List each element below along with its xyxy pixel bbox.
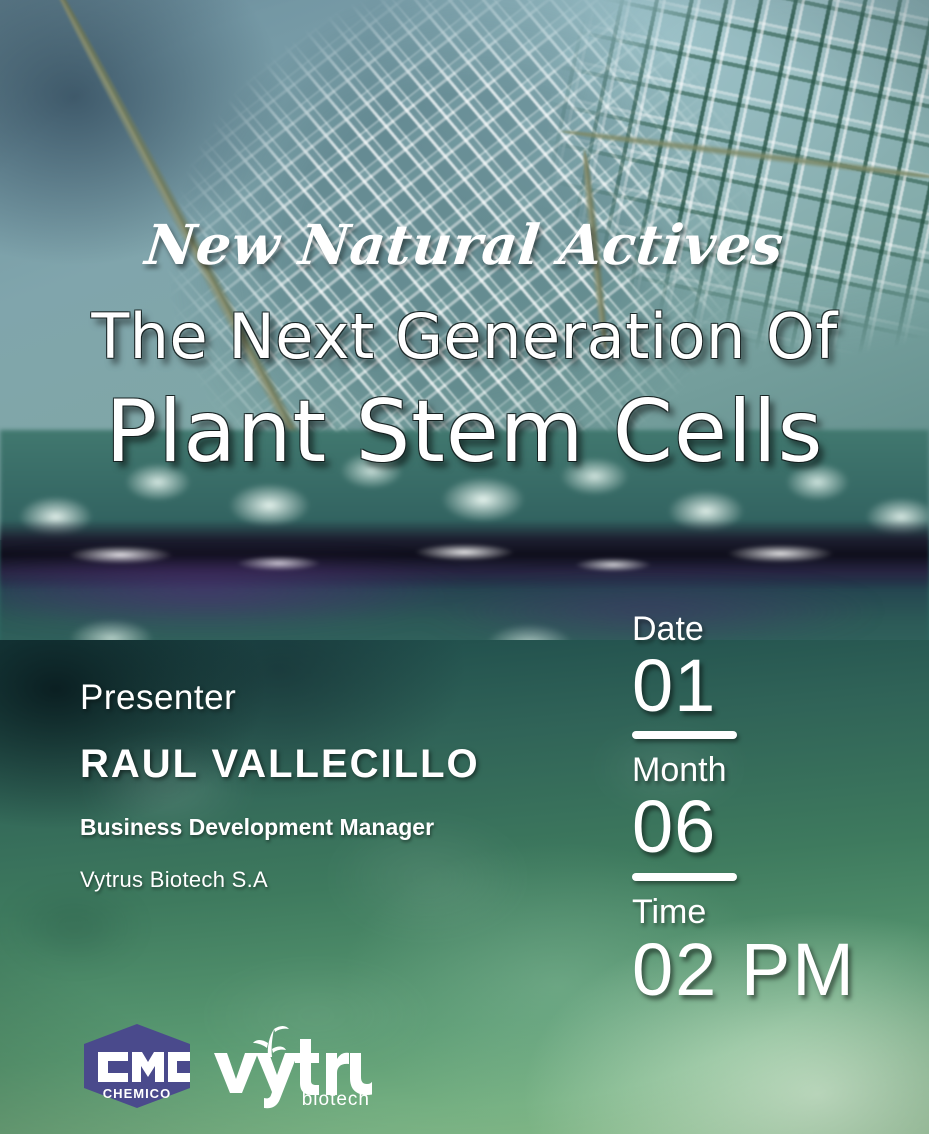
schedule-block: Date 01 Month 06 Time 02 PM: [632, 612, 856, 1009]
vytrus-logo: biotech: [212, 1023, 372, 1109]
presenter-block: Presenter RAUL VALLECILLO Business Devel…: [80, 678, 480, 893]
webinar-poster: New Natural Actives The Next Generation …: [0, 0, 929, 1134]
presenter-name: RAUL VALLECILLO: [80, 742, 480, 787]
date-label: Date: [632, 612, 856, 646]
chemico-logo: CHEMICO: [78, 1022, 196, 1110]
time-value: 02 PM: [632, 931, 856, 1009]
presenter-role: Business Development Manager: [80, 813, 480, 843]
title-line-2: Plant Stem Cells: [0, 382, 929, 482]
presenter-company: Vytrus Biotech S.A: [80, 867, 480, 893]
month-label: Month: [632, 753, 856, 787]
title-line-1: The Next Generation Of: [0, 300, 929, 373]
schedule-divider-2: [632, 873, 737, 881]
vytrus-tagline: biotech: [302, 1089, 370, 1109]
chemico-hexagon-icon: CHEMICO: [78, 1022, 196, 1110]
script-headline: New Natural Actives: [0, 212, 929, 277]
chemico-wordmark: CHEMICO: [103, 1086, 171, 1101]
presenter-label: Presenter: [80, 678, 480, 718]
time-label: Time: [632, 895, 856, 929]
date-value: 01: [632, 648, 856, 723]
month-value: 06: [632, 789, 856, 864]
logo-row: CHEMICO: [78, 1022, 372, 1110]
vytrus-wordmark-icon: biotech: [212, 1023, 372, 1109]
schedule-divider-1: [632, 731, 737, 739]
